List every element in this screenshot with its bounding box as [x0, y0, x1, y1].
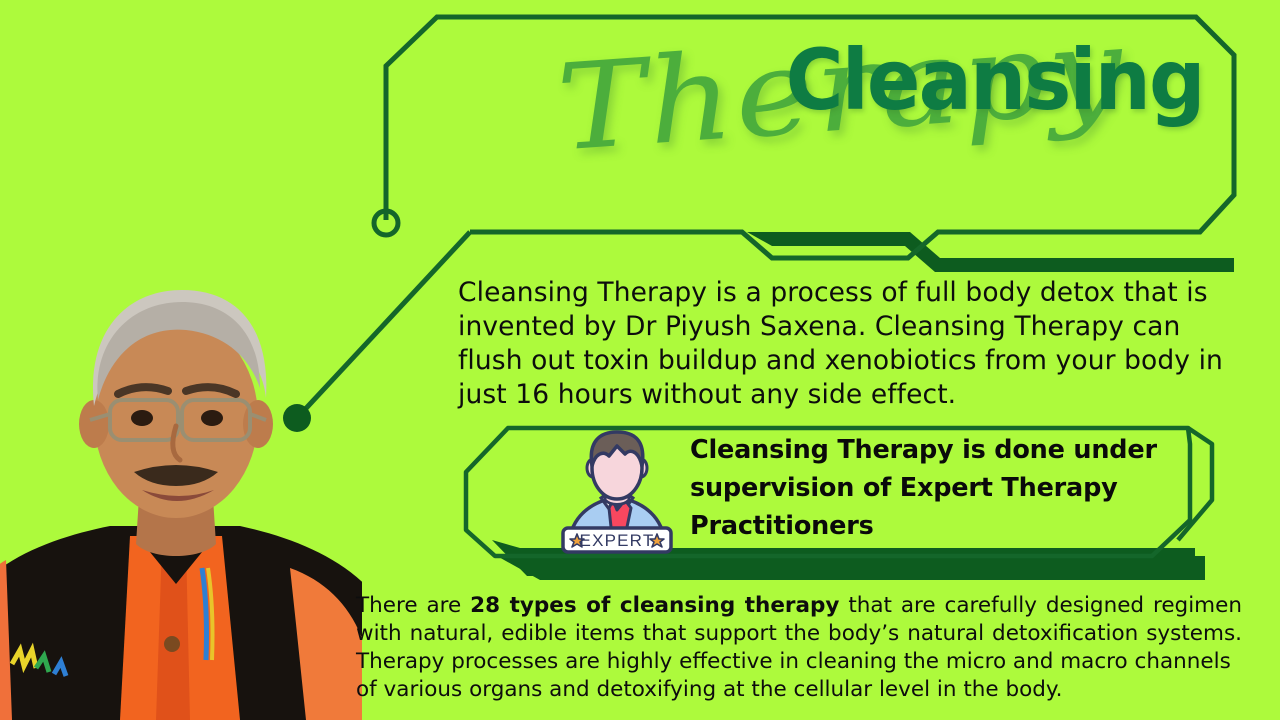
title-frame-shadow: [747, 232, 1234, 272]
intro-line-2: invented by Dr Piyush Saxena. Cleansing …: [458, 310, 1242, 344]
bottom-pre: There are: [356, 593, 470, 618]
bottom-paragraph: There are 28 types of cleansing therapy …: [356, 592, 1242, 704]
expert-line-1: Cleansing Therapy is done under: [690, 431, 1190, 469]
title-main-word: Cleansing: [786, 38, 1204, 122]
intro-line-3: flush out toxin buildup and xenobiotics …: [458, 344, 1242, 378]
bottom-highlight: 28 types of cleansing therapy: [470, 593, 839, 618]
title-block: Therapy Cleansing: [540, 14, 1240, 224]
expert-line-2: supervision of Expert Therapy: [690, 469, 1190, 507]
expert-card-text: Cleansing Therapy is done under supervis…: [690, 431, 1190, 545]
portrait-illustration: [0, 268, 362, 720]
infographic-canvas: Therapy Cleansing Cleansing Therapy is a…: [0, 0, 1280, 720]
intro-line-1: Cleansing Therapy is a process of full b…: [458, 276, 1242, 310]
bottom-paragraph-body: There are 28 types of cleansing therapy …: [356, 592, 1242, 676]
expert-practitioner-icon: EXPERT: [557, 428, 677, 554]
bottom-lastline: of various organs and detoxifying at the…: [356, 676, 1242, 704]
expert-supervision-card: EXPERT Cleansing Therapy is done under s…: [462, 420, 1202, 560]
expert-badge-label: EXPERT: [580, 531, 655, 550]
expert-line-3: Practitioners: [690, 507, 1190, 545]
intro-paragraph: Cleansing Therapy is a process of full b…: [458, 276, 1242, 412]
intro-line-4: just 16 hours without any side effect.: [458, 378, 1242, 412]
portrait-photo: [0, 268, 362, 720]
